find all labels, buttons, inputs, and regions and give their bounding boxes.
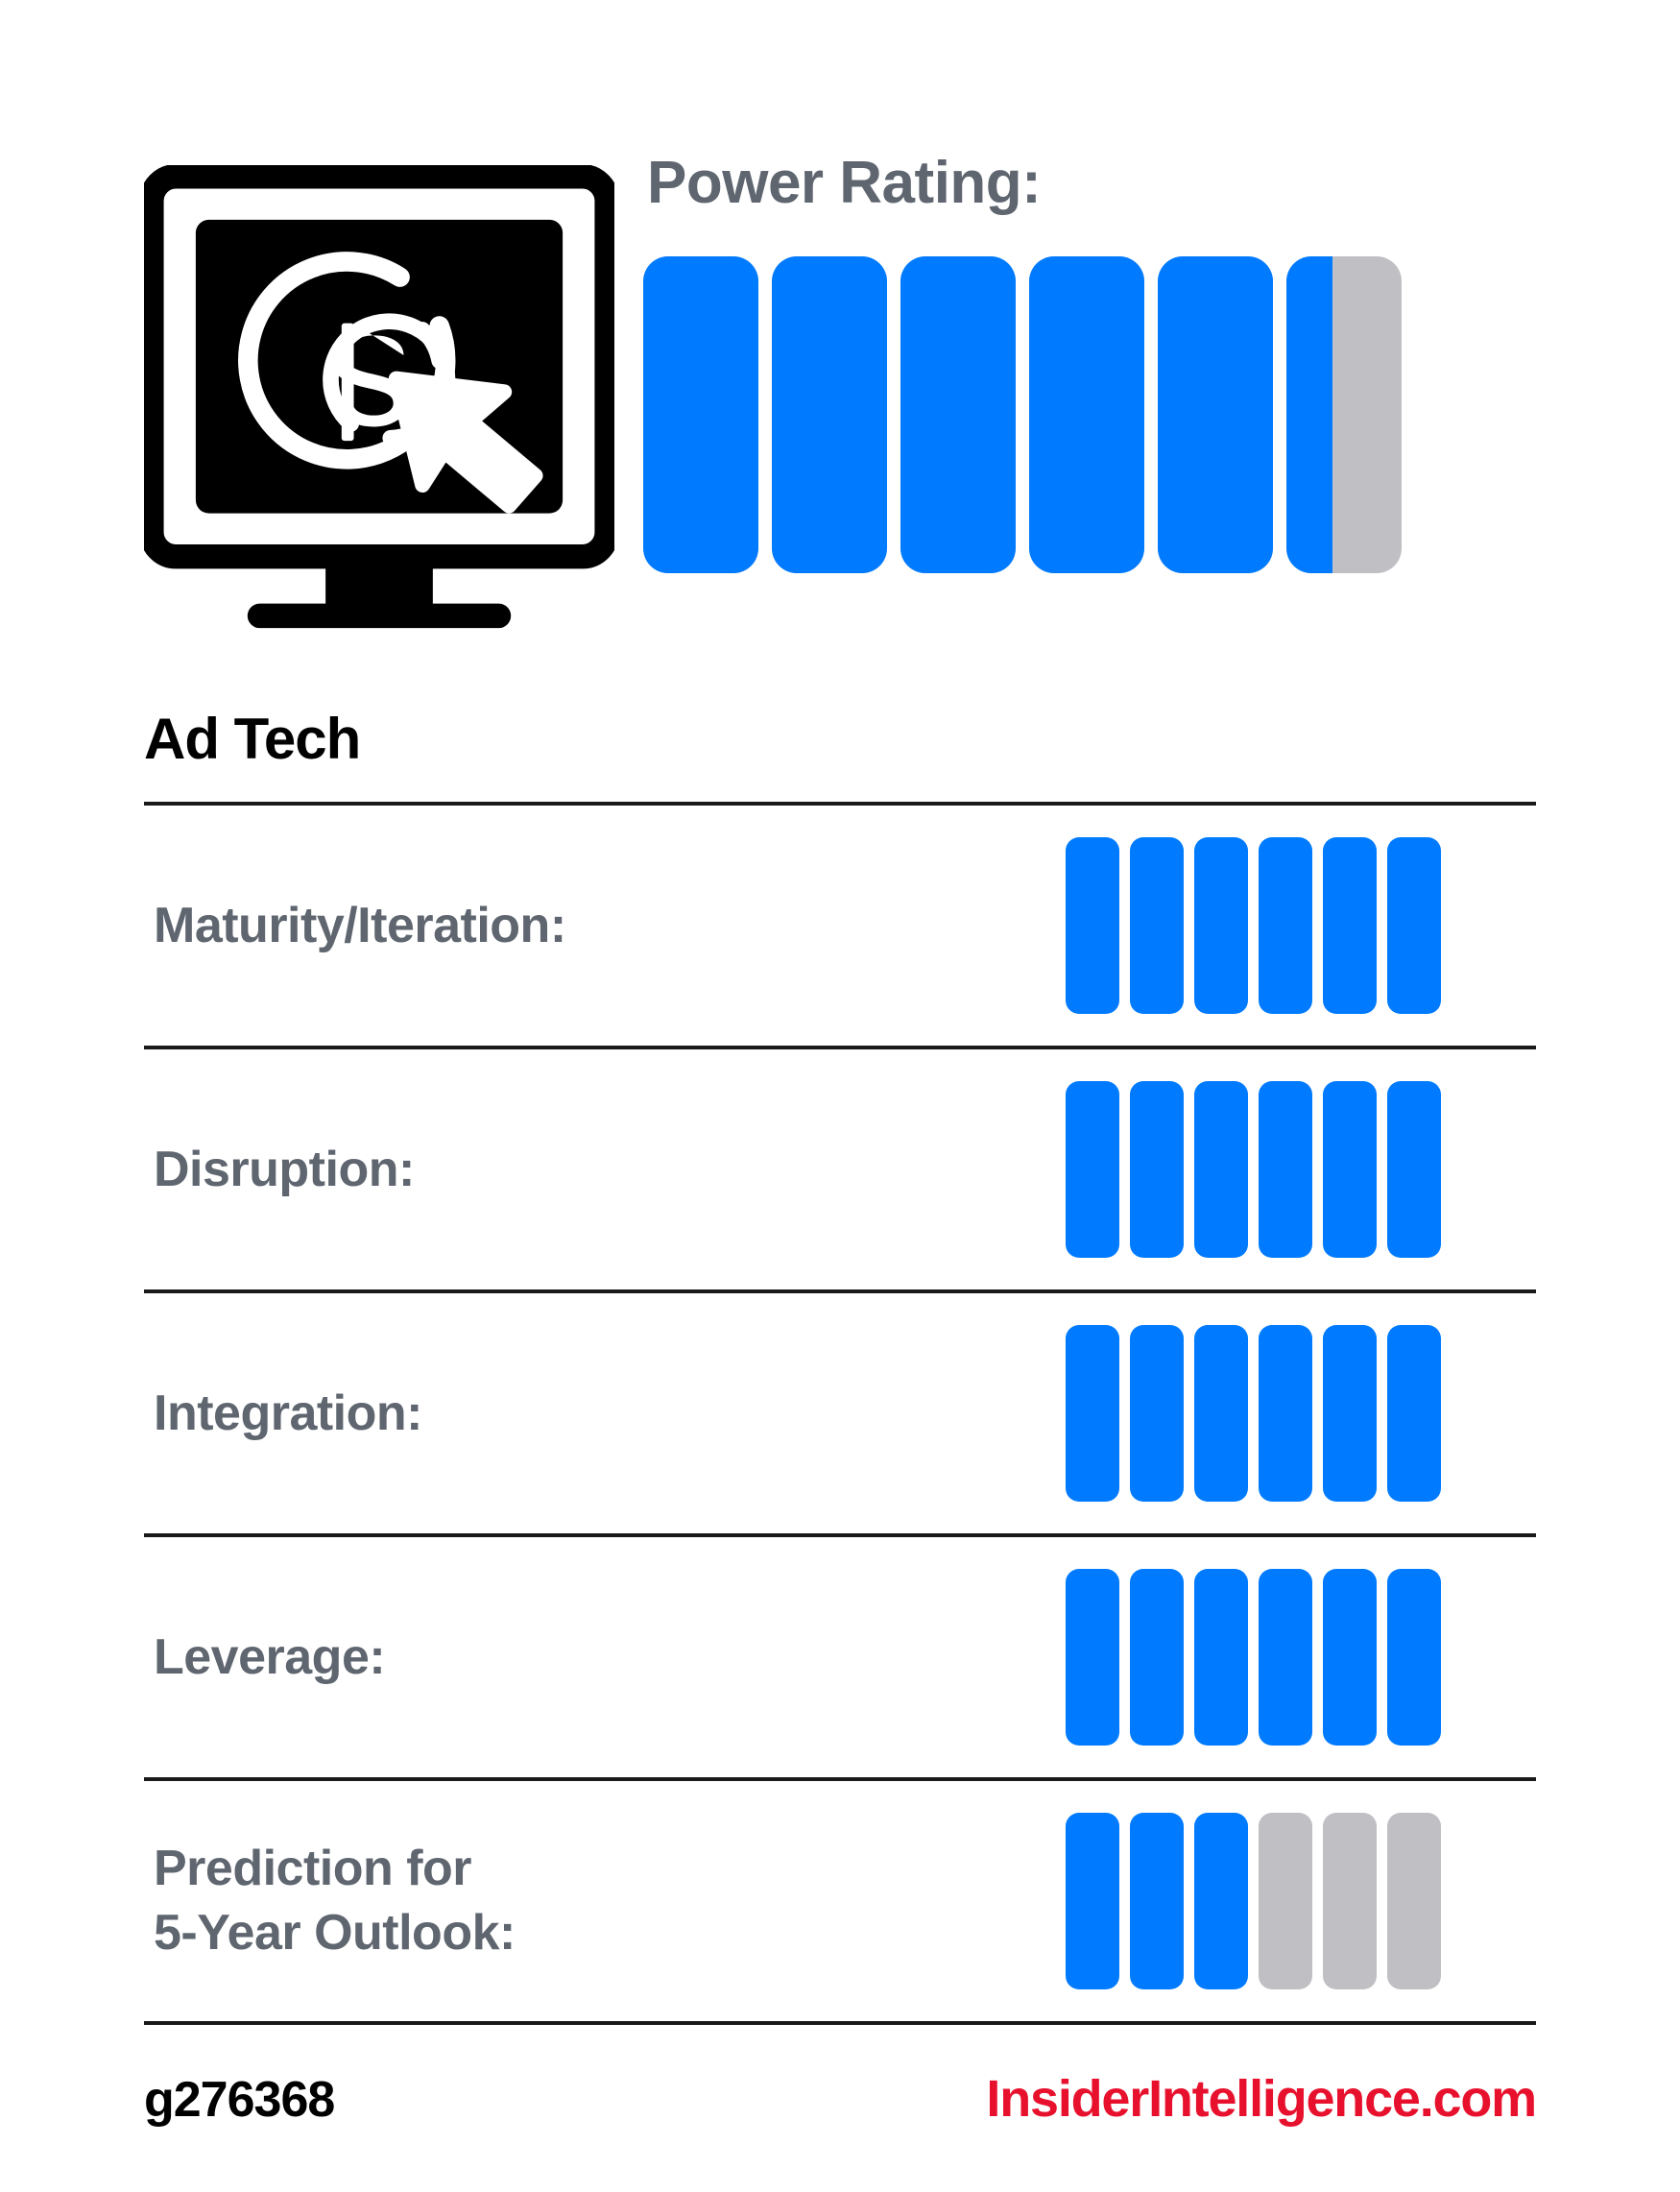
metric-rating-segment — [1323, 837, 1377, 1014]
footer: g276368 InsiderIntelligence.com — [144, 2069, 1536, 2129]
power-rating-bars — [643, 256, 1536, 573]
metric-rating-segment — [1130, 837, 1184, 1014]
metric-rating-segment — [1130, 1813, 1184, 1989]
metric-rating-segment — [1194, 1813, 1248, 1989]
metric-rating-segment — [1066, 1569, 1119, 1746]
metric-row: Disruption: — [144, 1049, 1536, 1289]
metric-row: Prediction for5-Year Outlook: — [144, 1781, 1536, 2021]
metric-row: Leverage: — [144, 1537, 1536, 1777]
metric-label: Maturity/Iteration: — [144, 894, 1066, 958]
power-rating-segment-fill — [643, 256, 758, 573]
metric-rating-segment — [1387, 1325, 1441, 1502]
metric-rating-segment — [1259, 1325, 1312, 1502]
metric-label-line: Maturity/Iteration: — [154, 894, 1066, 958]
power-rating-segment-fill — [772, 256, 887, 573]
ad-tech-monitor-click-icon — [144, 144, 643, 624]
power-rating-label: Power Rating: — [647, 152, 1536, 214]
metric-label-line: Integration: — [154, 1382, 1066, 1446]
power-rating-segment-fill — [1286, 256, 1332, 573]
metric-rating-segment — [1194, 1081, 1248, 1258]
metric-label-line: Leverage: — [154, 1626, 1066, 1690]
metric-rating-segment — [1259, 1813, 1312, 1989]
metric-rating-segment — [1194, 1325, 1248, 1502]
header: Power Rating: — [144, 144, 1536, 643]
brand-watermark[interactable]: InsiderIntelligence.com — [986, 2069, 1536, 2129]
metric-label: Integration: — [144, 1382, 1066, 1446]
metric-rating-segment — [1387, 837, 1441, 1014]
metric-rating-segment — [1387, 1081, 1441, 1258]
metric-rating-segment — [1323, 1569, 1377, 1746]
metric-row: Maturity/Iteration: — [144, 806, 1536, 1046]
metric-rating-segment — [1066, 1081, 1119, 1258]
power-rating-segment-fill — [1029, 256, 1144, 573]
metric-label-line: 5-Year Outlook: — [154, 1901, 1066, 1965]
metric-rating-segment — [1066, 1325, 1119, 1502]
metric-rating-bars — [1066, 1081, 1536, 1258]
metric-rating-segment — [1130, 1569, 1184, 1746]
metric-rating-segment — [1387, 1813, 1441, 1989]
metric-rating-segment — [1066, 837, 1119, 1014]
section-title-row: Ad Tech — [144, 711, 1536, 785]
metric-rating-segment — [1259, 1569, 1312, 1746]
metric-row: Integration: — [144, 1293, 1536, 1533]
power-rating-segment — [1158, 256, 1273, 573]
metric-rating-segment — [1259, 1081, 1312, 1258]
divider — [144, 2021, 1536, 2025]
metric-rating-bars — [1066, 1569, 1536, 1746]
metric-rating-segment — [1387, 1569, 1441, 1746]
page-title: Ad Tech — [144, 711, 1536, 785]
metric-rating-bars — [1066, 837, 1536, 1014]
power-rating-segment-fill — [900, 256, 1016, 573]
metric-rating-segment — [1130, 1325, 1184, 1502]
metric-label: Leverage: — [144, 1626, 1066, 1690]
metric-rating-bars — [1066, 1325, 1536, 1502]
metric-rating-segment — [1323, 1325, 1377, 1502]
power-rating-segment — [900, 256, 1016, 573]
power-rating-segment — [1286, 256, 1402, 573]
metric-label-line: Prediction for — [154, 1837, 1066, 1901]
power-rating-segment — [772, 256, 887, 573]
metric-label: Prediction for5-Year Outlook: — [144, 1837, 1066, 1964]
power-rating-segment — [1029, 256, 1144, 573]
metric-label-line: Disruption: — [154, 1138, 1066, 1202]
power-rating-block: Power Rating: — [643, 144, 1536, 573]
metric-rating-segment — [1066, 1813, 1119, 1989]
metric-rating-segment — [1194, 1569, 1248, 1746]
infographic-page: Power Rating: Ad Tech Maturity/Iteration… — [0, 0, 1680, 2192]
metric-rating-segment — [1130, 1081, 1184, 1258]
metric-label: Disruption: — [144, 1138, 1066, 1202]
metric-rating-segment — [1323, 1813, 1377, 1989]
power-rating-segment-fill — [1158, 256, 1273, 573]
chart-id-code: g276368 — [144, 2071, 334, 2129]
power-rating-segment — [643, 256, 758, 573]
metric-rating-segment — [1259, 837, 1312, 1014]
metric-rating-bars — [1066, 1813, 1536, 1989]
metrics-table: Maturity/Iteration:Disruption:Integratio… — [144, 802, 1536, 2025]
metric-rating-segment — [1194, 837, 1248, 1014]
metric-rating-segment — [1323, 1081, 1377, 1258]
